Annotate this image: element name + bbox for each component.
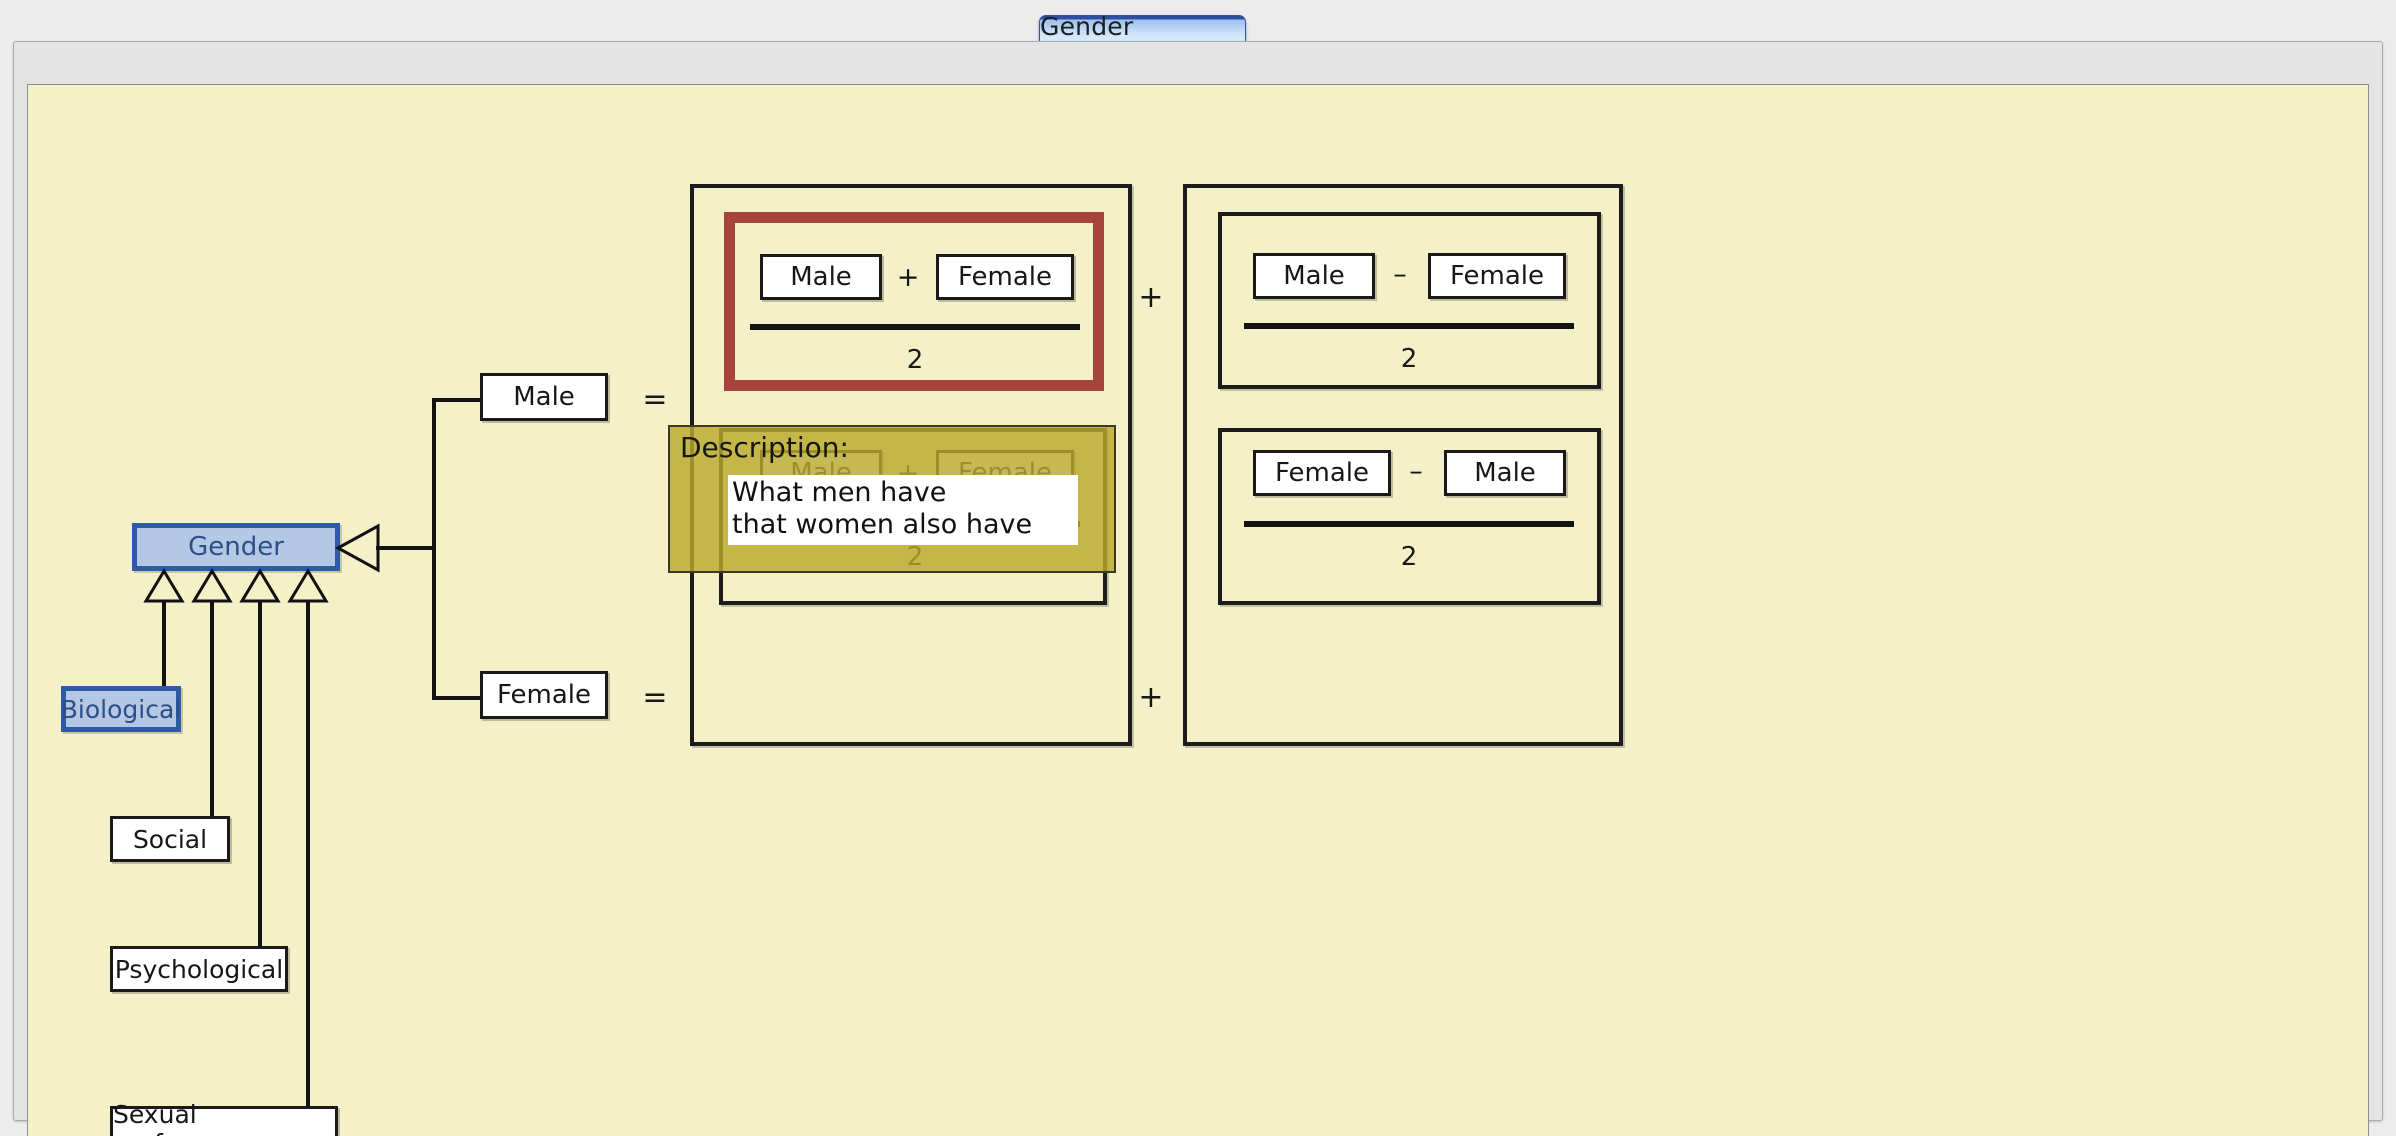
right-f2-denominator: 2 [1244, 542, 1574, 572]
node-branch-female[interactable]: Female [480, 671, 608, 719]
edge-gender-psychological [258, 600, 262, 948]
edge-gender-sexual-preference [306, 600, 310, 1128]
generalization-triangle-sexual-preference [288, 569, 328, 603]
middle-f1-male-label: Male [790, 262, 852, 292]
edge-branch-trunk [376, 546, 436, 550]
editor-panel: Gender Biological [13, 41, 2383, 1121]
right-f1-operator: – [1386, 261, 1414, 288]
node-biological-label: Biological [61, 695, 181, 724]
right-f2-numerator-female[interactable]: Female [1253, 450, 1391, 496]
description-tooltip-title: Description: [680, 433, 1114, 462]
right-f1-denominator: 2 [1244, 344, 1574, 374]
node-gender-label: Gender [188, 532, 284, 562]
edge-gender-social [210, 600, 214, 818]
application-window: Gender modeling Gender [0, 0, 2396, 1136]
right-f2-numerator-male[interactable]: Male [1444, 450, 1566, 496]
node-branch-male-label: Male [513, 382, 575, 412]
middle-f1-female-label: Female [958, 262, 1052, 292]
middle-f1-numerator-female[interactable]: Female [936, 254, 1074, 300]
node-psychological[interactable]: Psychological [110, 946, 288, 992]
node-social-label: Social [133, 825, 207, 854]
node-sexual-preference-label: Sexual preference [113, 1100, 335, 1136]
node-branch-female-label: Female [497, 680, 591, 710]
edge-branch-spine [432, 398, 436, 700]
node-biological[interactable]: Biological [61, 686, 181, 732]
description-tooltip: Description: What men have that women al… [668, 425, 1116, 573]
edge-branch-male [432, 398, 484, 402]
edge-branch-female [432, 696, 484, 700]
generalization-triangle-social [192, 569, 232, 603]
middle-f1-fraction-bar [750, 324, 1080, 330]
middle-f1-numerator-male[interactable]: Male [760, 254, 882, 300]
right-f2-fraction-bar [1244, 521, 1574, 527]
middle-f1-denominator: 2 [750, 345, 1080, 375]
aggregation-arrow-icon [334, 522, 380, 574]
generalization-triangle-biological [144, 569, 184, 603]
right-f2-operator: – [1402, 458, 1430, 485]
node-gender[interactable]: Gender [132, 523, 340, 571]
diagram-canvas[interactable]: Gender Biological [27, 84, 2369, 1136]
right-f1-fraction-bar [1244, 323, 1574, 329]
node-branch-male[interactable]: Male [480, 373, 608, 421]
edge-gender-biological [162, 600, 166, 688]
node-psychological-label: Psychological [115, 955, 283, 984]
right-f1-numerator-male[interactable]: Male [1253, 253, 1375, 299]
middle-f1-operator: + [894, 264, 922, 291]
plus-bottom-connector: + [1134, 683, 1168, 713]
right-f2-female-label: Female [1275, 458, 1369, 488]
node-sexual-preference[interactable]: Sexual preference [110, 1106, 338, 1136]
plus-top-connector: + [1134, 283, 1168, 313]
description-tooltip-body: What men have that women also have [728, 475, 1078, 545]
equals-bottom: = [640, 683, 670, 713]
node-social[interactable]: Social [110, 816, 230, 862]
right-f1-numerator-female[interactable]: Female [1428, 253, 1566, 299]
right-f1-female-label: Female [1450, 261, 1544, 291]
generalization-triangle-psychological [240, 569, 280, 603]
right-f2-male-label: Male [1474, 458, 1536, 488]
equals-top: = [640, 385, 670, 415]
right-f1-male-label: Male [1283, 261, 1345, 291]
